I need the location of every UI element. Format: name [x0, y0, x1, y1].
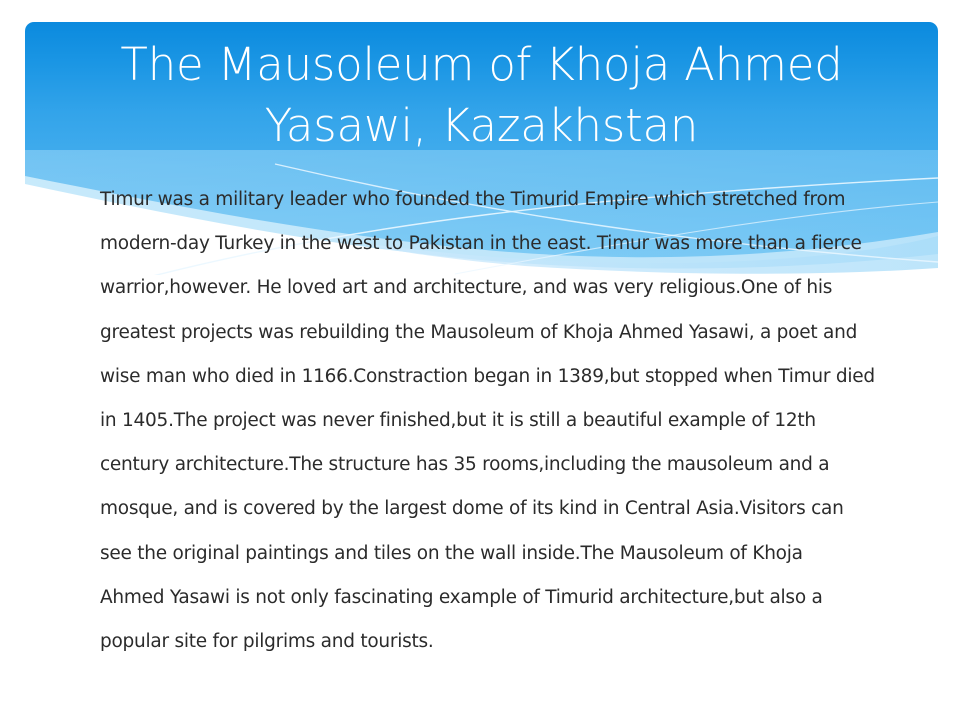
- body-line: see the original paintings and tiles on …: [100, 532, 890, 576]
- body-line: greatest projects was rebuilding the Mau…: [100, 311, 890, 355]
- body-line: century architecture.The structure has 3…: [100, 443, 890, 487]
- title-banner: The Mausoleum of Khoja Ahmed Yasawi, Kaz…: [25, 22, 938, 170]
- body-line: warrior,however. He loved art and archit…: [100, 266, 890, 310]
- body-line: mosque, and is covered by the largest do…: [100, 487, 890, 531]
- body-line: Timur was a military leader who founded …: [100, 178, 890, 222]
- body-line: modern-day Turkey in the west to Pakista…: [100, 222, 890, 266]
- body-line: in 1405.The project was never finished,b…: [100, 399, 890, 443]
- page-title: The Mausoleum of Khoja Ahmed Yasawi, Kaz…: [25, 34, 938, 156]
- body-text-block: Timur was a military leader who founded …: [100, 178, 890, 664]
- body-line: popular site for pilgrims and tourists.: [100, 620, 890, 664]
- slide-canvas: The Mausoleum of Khoja Ahmed Yasawi, Kaz…: [0, 0, 960, 720]
- body-line: Ahmed Yasawi is not only fascinating exa…: [100, 576, 890, 620]
- body-line: wise man who died in 1166.Constraction b…: [100, 355, 890, 399]
